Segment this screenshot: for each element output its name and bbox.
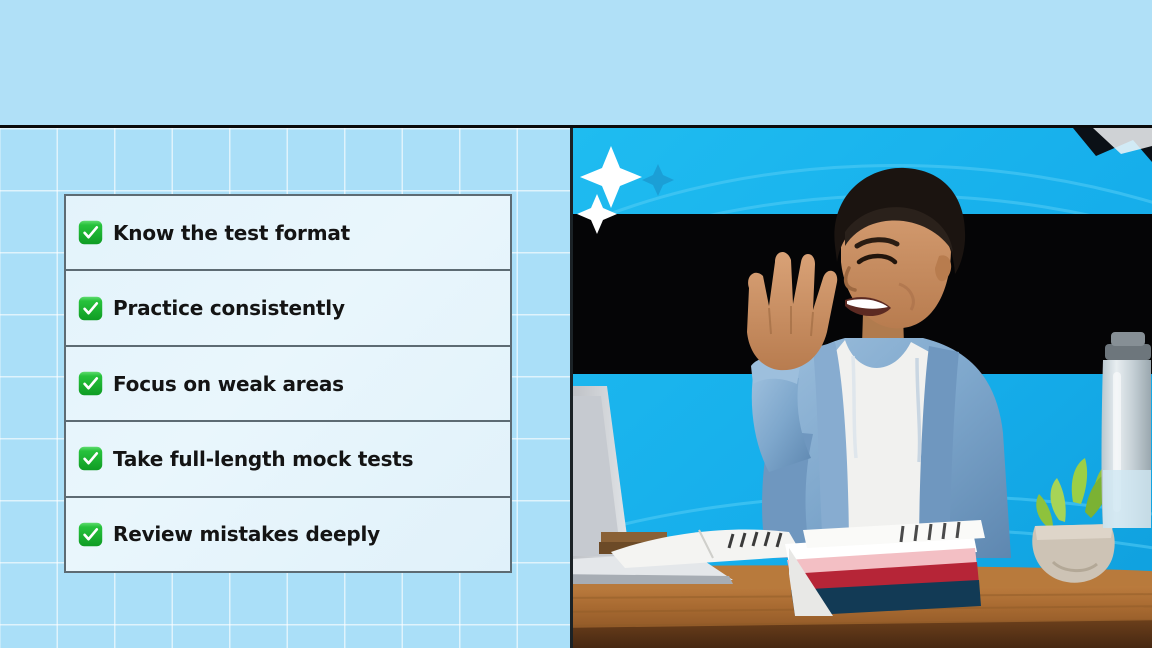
checklist-item[interactable]: Practice consistently: [66, 271, 510, 346]
checklist-item-label: Know the test format: [113, 220, 350, 246]
checklist-item-label: Focus on weak areas: [113, 371, 344, 397]
check-mark-button-icon: [78, 371, 103, 396]
student-photo-illustration: [573, 128, 1152, 648]
checklist-item[interactable]: Focus on weak areas: [66, 347, 510, 422]
header-divider-rule: [0, 125, 1152, 128]
checklist-card: Know the test format Practice consistent…: [64, 194, 512, 573]
checklist-item-label: Review mistakes deeply: [113, 521, 380, 547]
check-mark-button-icon: [78, 446, 103, 471]
checklist-item[interactable]: Review mistakes deeply: [66, 498, 510, 571]
checklist-item-label: Practice consistently: [113, 295, 345, 321]
checklist-item[interactable]: Take full-length mock tests: [66, 422, 510, 497]
student-photo: [573, 128, 1152, 648]
photo-left-border: [570, 128, 573, 648]
slide-canvas: How To Study for The SAT Know the test f…: [0, 0, 1152, 648]
slide-header: [0, 0, 1152, 126]
check-mark-button-icon: [78, 220, 103, 245]
check-mark-button-icon: [78, 296, 103, 321]
check-mark-button-icon: [78, 522, 103, 547]
checklist-item-label: Take full-length mock tests: [113, 446, 413, 472]
checklist-item[interactable]: Know the test format: [66, 196, 510, 271]
